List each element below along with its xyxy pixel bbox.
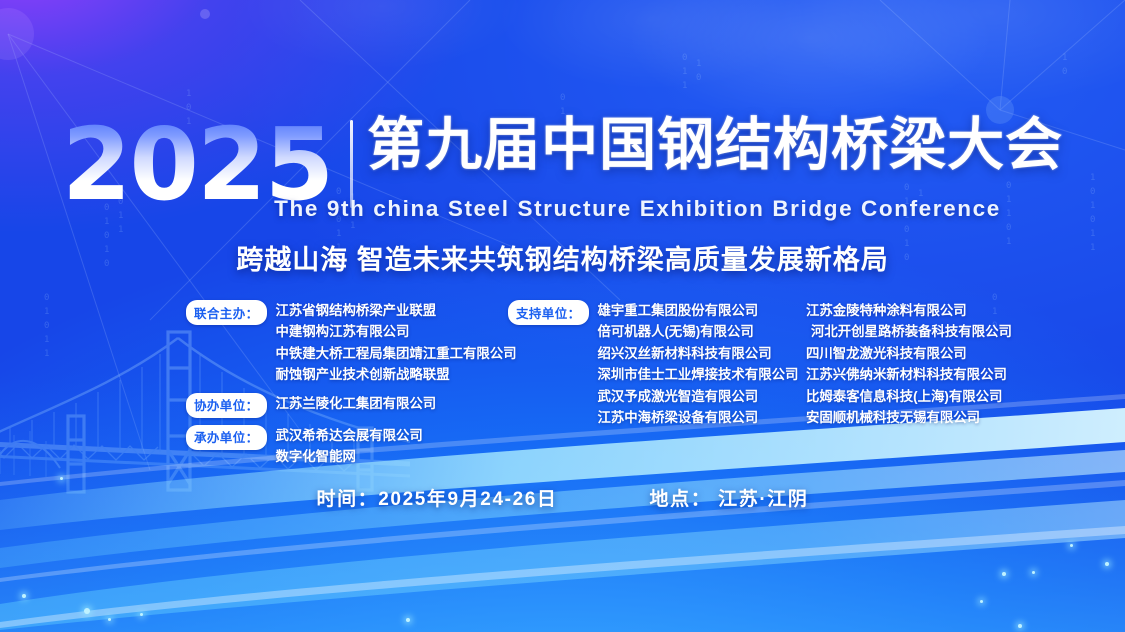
undertaker-list: 武汉希希达会展有限公司 数字化智能网 <box>276 425 486 468</box>
svg-text:1: 1 <box>186 89 191 99</box>
list-item: 安固顺机械科技无锡有限公司 <box>806 407 1066 428</box>
svg-text:0: 0 <box>696 73 701 83</box>
list-item: 江苏兰陵化工集团有限公司 <box>276 393 486 414</box>
svg-text:1: 1 <box>44 349 49 359</box>
slogan: 跨越山海 智造未来共筑钢结构桥梁高质量发展新格局 <box>0 238 1125 277</box>
supporter-list-middle: 雄宇重工集团股份有限公司 倍可机器人(无锡)有限公司 绍兴汉丝新材料科技有限公司… <box>598 300 808 428</box>
svg-text:0: 0 <box>1062 67 1067 77</box>
list-item: 倍可机器人(无锡)有限公司 <box>598 321 808 342</box>
list-item: 比姆泰客信息科技(上海)有限公司 <box>806 386 1066 407</box>
conference-banner: 010 11 101 010 011 101 010 110 101 011 1… <box>0 0 1125 632</box>
co-host-list: 江苏省钢结构桥梁产业联盟 中建钢构江苏有限公司 中铁建大桥工程局集团靖江重工有限… <box>276 300 486 386</box>
list-item: 江苏金陵特种涂料有限公司 <box>806 300 1066 321</box>
supporter-group: 支持单位： 雄宇重工集团股份有限公司 倍可机器人(无锡)有限公司 绍兴汉丝新材料… <box>508 300 808 428</box>
svg-text:0: 0 <box>44 321 49 331</box>
list-item: 深圳市佳士工业焊接技术有限公司 <box>598 364 808 385</box>
undertaker-group: 承办单位： 武汉希希达会展有限公司 数字化智能网 <box>186 425 486 468</box>
svg-text:1: 1 <box>696 59 701 69</box>
svg-text:0: 0 <box>904 225 909 235</box>
list-item: 四川智龙激光科技有限公司 <box>806 343 1066 364</box>
svg-text:0: 0 <box>682 53 687 63</box>
svg-text:0: 0 <box>44 293 49 303</box>
svg-text:1: 1 <box>118 225 123 235</box>
svg-text:1: 1 <box>682 67 687 77</box>
list-item: 江苏省钢结构桥梁产业联盟 <box>276 300 486 321</box>
svg-text:0: 0 <box>1006 223 1011 233</box>
list-item: 绍兴汉丝新材料科技有限公司 <box>598 343 808 364</box>
co-organizer-group: 协办单位： 江苏兰陵化工集团有限公司 <box>186 393 486 418</box>
list-item: 中铁建大桥工程局集团靖江重工有限公司 <box>276 343 486 364</box>
svg-text:1: 1 <box>1062 53 1067 63</box>
co-organizer-badge: 协办单位： <box>186 393 267 418</box>
event-meta: 时间：2025年9月24-26日 地点： 江苏·江阴 <box>0 484 1125 511</box>
co-organizer-list: 江苏兰陵化工集团有限公司 <box>276 393 486 414</box>
list-item: 中建钢构江苏有限公司 <box>276 321 486 342</box>
list-item: 江苏中海桥梁设备有限公司 <box>598 407 808 428</box>
page-title: 第九届中国钢结构桥梁大会 <box>367 116 1063 174</box>
svg-text:1: 1 <box>44 307 49 317</box>
list-item: 武汉予成激光智造有限公司 <box>598 386 808 407</box>
co-host-badge: 联合主办： <box>186 300 267 325</box>
list-item: 数字化智能网 <box>276 446 486 467</box>
co-host-group: 联合主办： 江苏省钢结构桥梁产业联盟 中建钢构江苏有限公司 中铁建大桥工程局集团… <box>186 300 486 386</box>
organizer-column-right: 江苏金陵特种涂料有限公司 河北开创星路桥装备科技有限公司 四川智龙激光科技有限公… <box>806 300 1066 428</box>
svg-text:0: 0 <box>560 93 565 103</box>
organizer-column-middle: 支持单位： 雄宇重工集团股份有限公司 倍可机器人(无锡)有限公司 绍兴汉丝新材料… <box>508 300 808 428</box>
organizers-section: 联合主办： 江苏省钢结构桥梁产业联盟 中建钢构江苏有限公司 中铁建大桥工程局集团… <box>186 300 1066 450</box>
title-divider <box>350 120 353 208</box>
list-item: 耐蚀钢产业技术创新战略联盟 <box>276 364 486 385</box>
list-item: 江苏兴佛纳米新材料科技有限公司 <box>806 364 1066 385</box>
subtitle-english: The 9th china Steel Structure Exhibition… <box>0 196 1125 222</box>
organizer-column-left: 联合主办： 江苏省钢结构桥梁产业联盟 中建钢构江苏有限公司 中铁建大桥工程局集团… <box>186 300 486 467</box>
svg-text:1: 1 <box>44 335 49 345</box>
undertaker-badge: 承办单位： <box>186 425 267 450</box>
list-item: 武汉希希达会展有限公司 <box>276 425 486 446</box>
event-date: 时间：2025年9月24-26日 <box>316 484 557 511</box>
list-item: 雄宇重工集团股份有限公司 <box>598 300 808 321</box>
list-item: 河北开创星路桥装备科技有限公司 <box>806 321 1066 342</box>
event-location: 地点： 江苏·江阴 <box>650 484 809 511</box>
svg-text:1: 1 <box>682 81 687 91</box>
supporter-badge: 支持单位： <box>508 300 589 325</box>
